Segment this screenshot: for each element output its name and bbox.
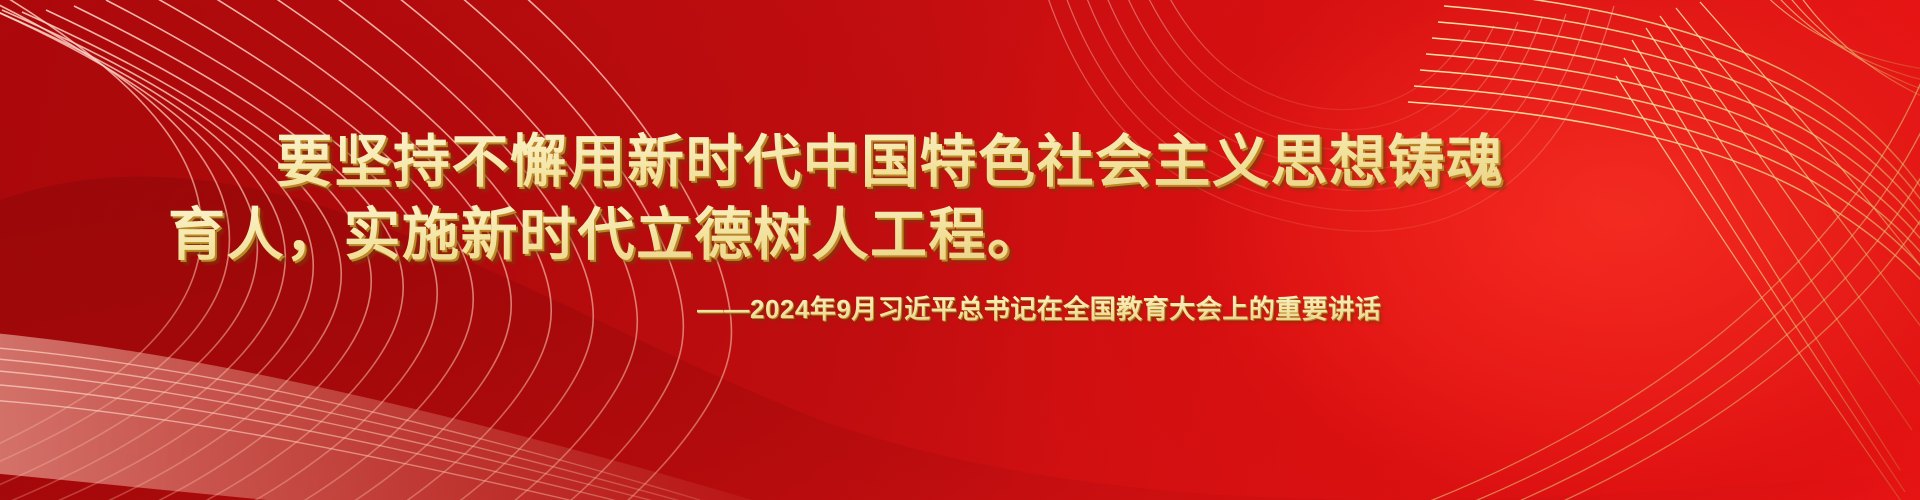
- quote-line-2: 育人，实施新时代立德树人工程。: [168, 189, 1046, 271]
- red-quote-banner: 要坚持不懈用新时代中国特色社会主义思想铸魂 育人，实施新时代立德树人工程。 ——…: [0, 0, 1920, 500]
- quote-block: 要坚持不懈用新时代中国特色社会主义思想铸魂 育人，实施新时代立德树人工程。 ——…: [0, 0, 1920, 500]
- quote-line-1: 要坚持不懈用新时代中国特色社会主义思想铸魂: [276, 116, 1505, 198]
- quote-attribution: ——2024年9月习近平总书记在全国教育大会上的重要讲话: [697, 289, 1381, 326]
